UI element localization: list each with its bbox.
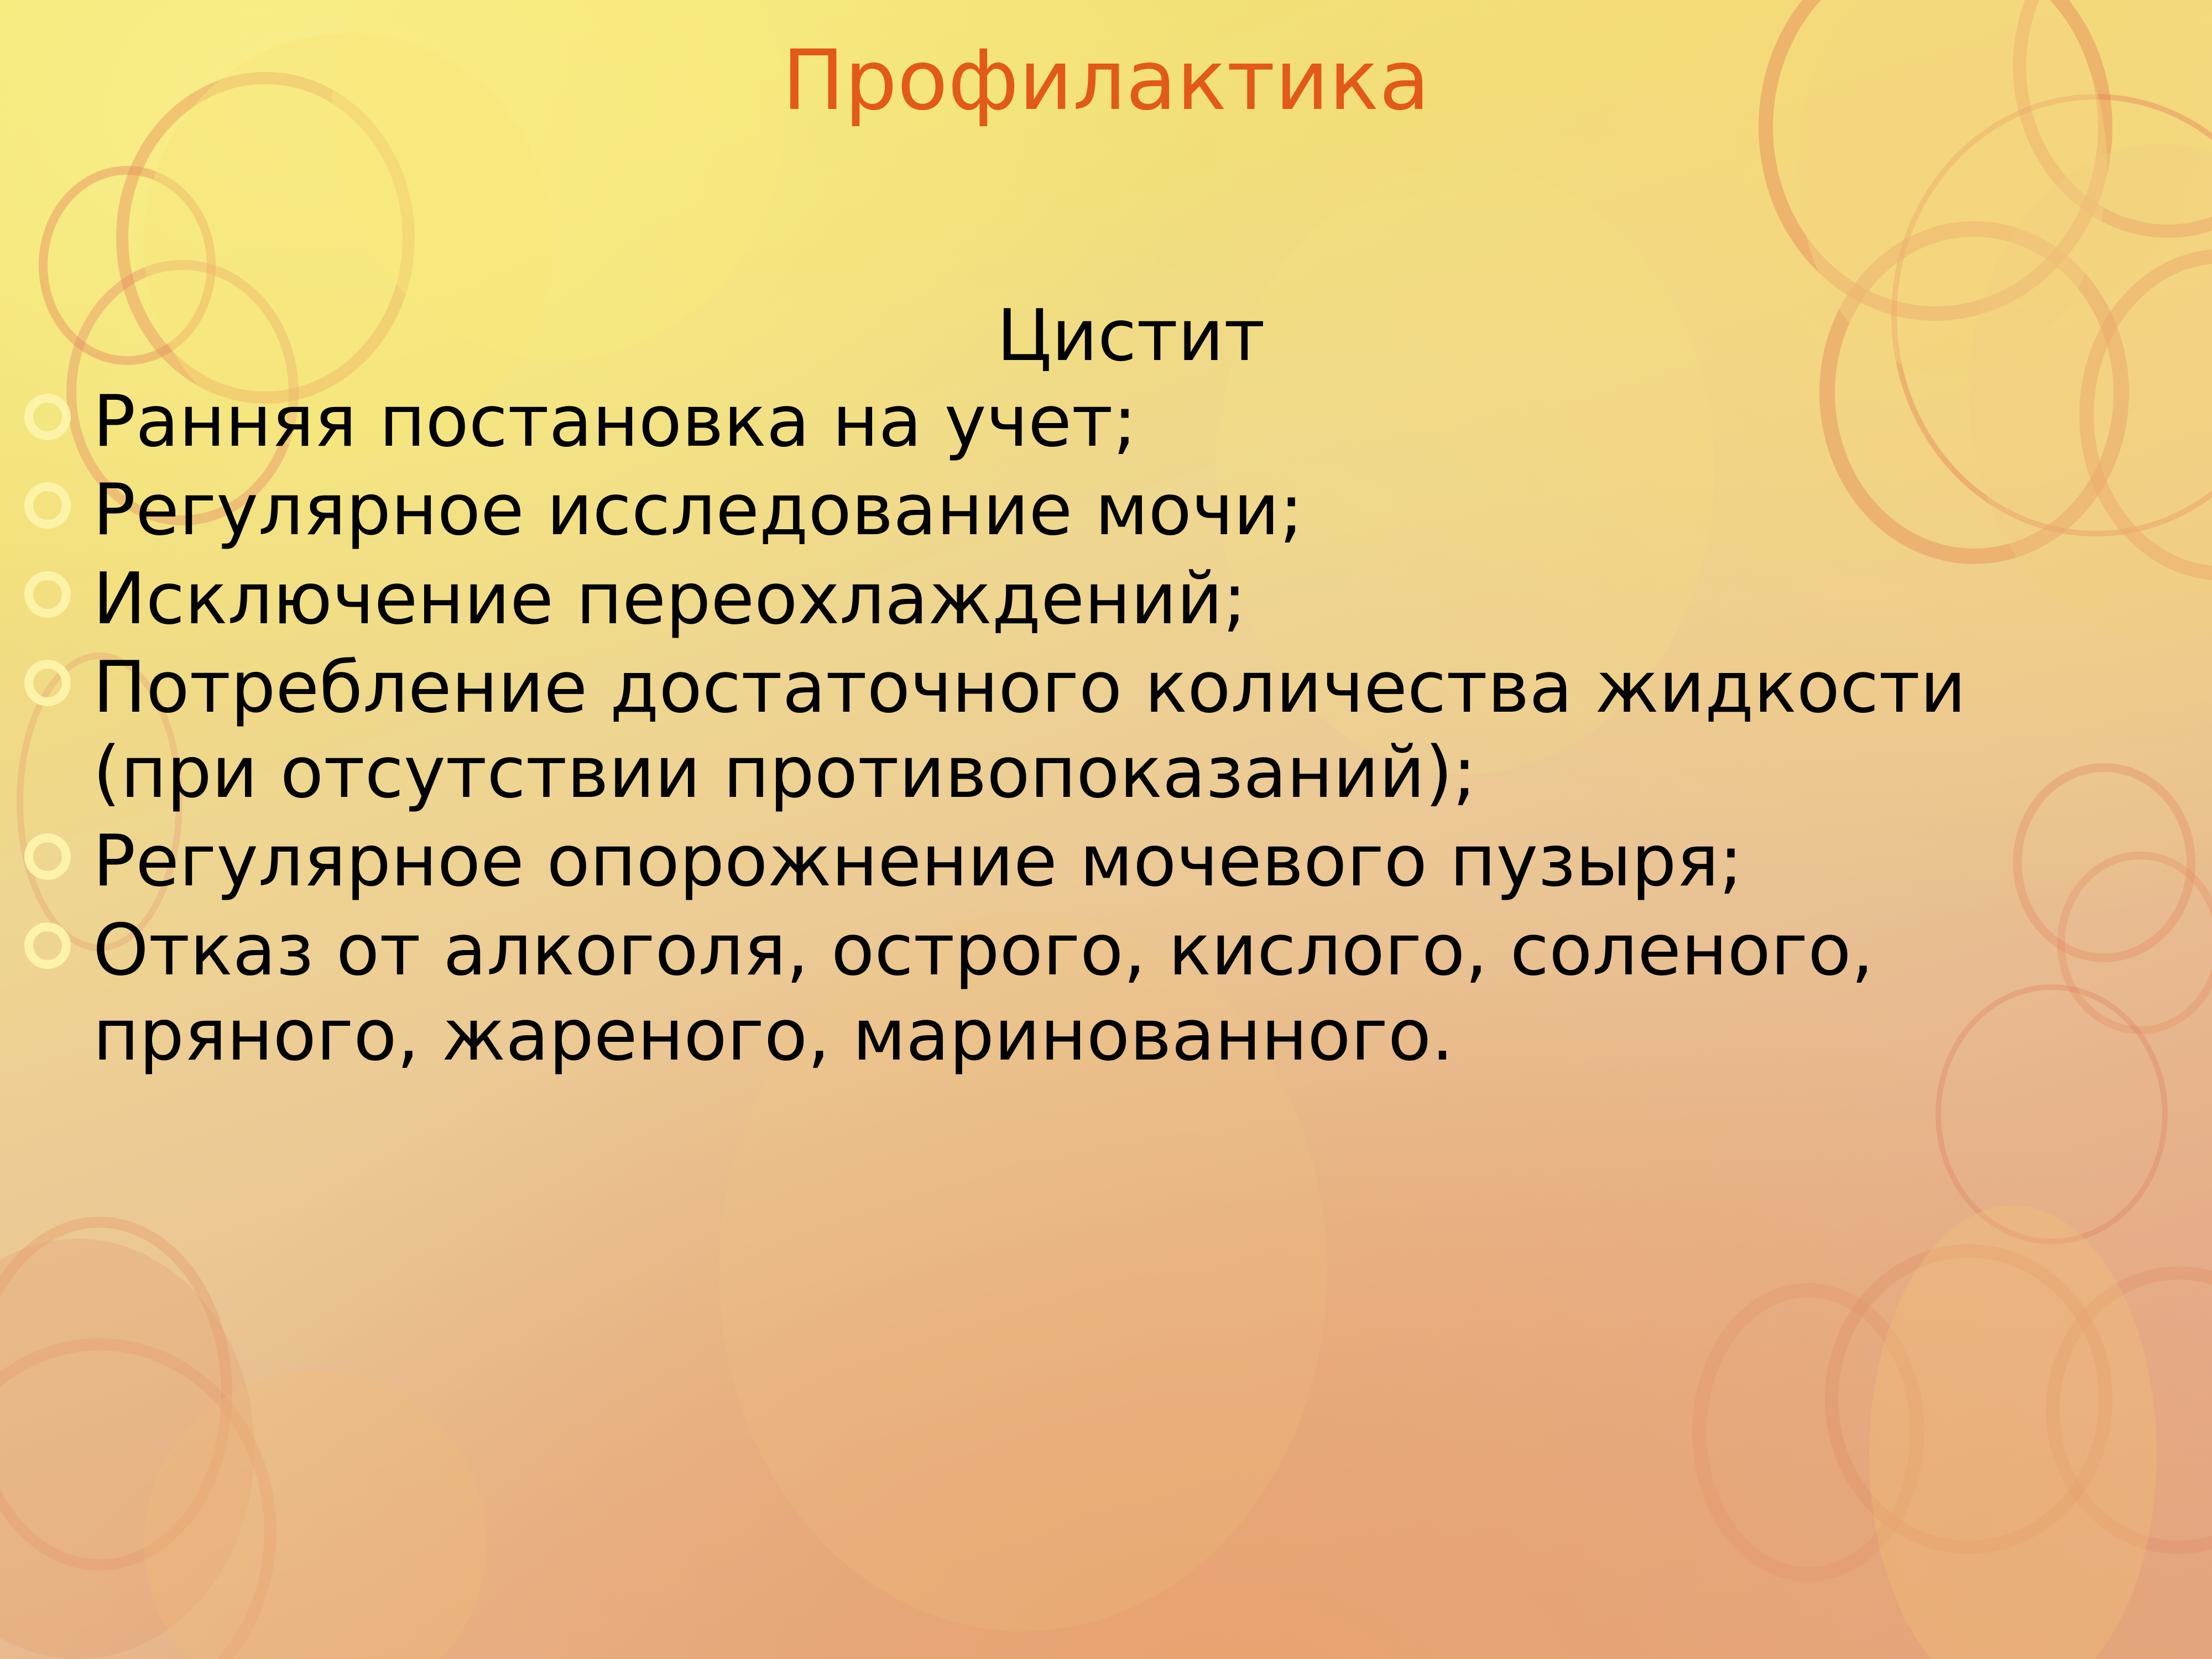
bullet-list: Ранняя постановка на учет; Регулярное ис…	[0, 379, 2212, 1078]
list-item-label: Исключение переохлаждений;	[93, 557, 2212, 642]
hollow-circle-bullet-icon	[24, 660, 71, 706]
subtitle: Цистит	[0, 293, 2212, 379]
list-item: Потребление достаточного количества жидк…	[0, 645, 2062, 816]
decorative-ring	[0, 1217, 232, 1571]
list-item: Регулярное опорожнение мочевого пузыря;	[0, 819, 2212, 904]
hollow-circle-bullet-icon	[24, 571, 71, 618]
list-item-label: Регулярное опорожнение мочевого пузыря;	[93, 819, 2212, 904]
hollow-circle-bullet-icon	[24, 922, 71, 969]
decorative-disc	[144, 1371, 487, 1659]
hollow-circle-bullet-icon	[24, 394, 71, 440]
hollow-circle-bullet-icon	[24, 482, 71, 529]
decorative-ring	[1692, 1283, 1924, 1582]
decorative-ring	[2046, 1266, 2212, 1554]
list-item: Отказ от алкоголя, острого, кислого, сол…	[0, 908, 1984, 1078]
hollow-circle-bullet-icon	[24, 833, 71, 880]
presentation-slide: Профилактика Цистит Ранняя постановка на…	[0, 0, 2212, 1659]
slide-body: Цистит Ранняя постановка на учет; Регуля…	[0, 293, 2212, 1082]
list-item: Исключение переохлаждений;	[0, 557, 2212, 642]
list-item-label: Регулярное исследование мочи;	[93, 468, 2212, 553]
decorative-ring	[1825, 1244, 2112, 1554]
decorative-ring	[0, 1338, 276, 1659]
list-item: Регулярное исследование мочи;	[0, 468, 2212, 553]
decorative-disc	[0, 1239, 254, 1659]
list-item-label: Отказ от алкоголя, острого, кислого, сол…	[93, 908, 1984, 1078]
list-item-label: Потребление достаточного количества жидк…	[93, 645, 2062, 816]
list-item-label: Ранняя постановка на учет;	[93, 379, 2212, 465]
page-title: Профилактика	[0, 39, 2212, 123]
decorative-disc	[1869, 1206, 2157, 1659]
list-item: Ранняя постановка на учет;	[0, 379, 2212, 465]
